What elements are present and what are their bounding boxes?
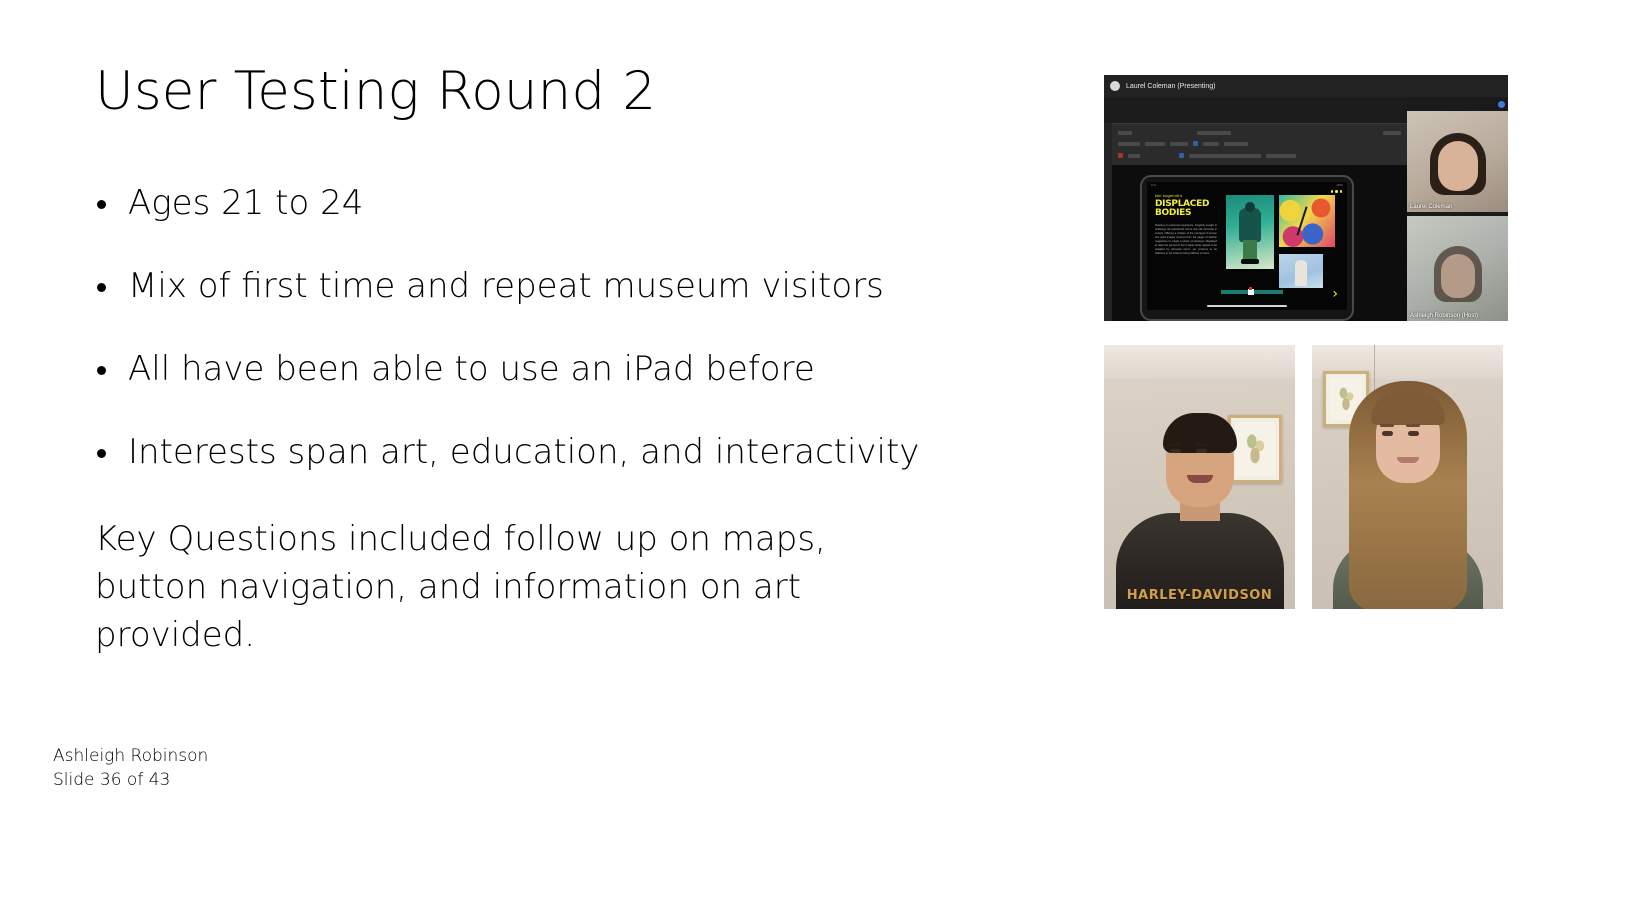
- slide-footer: Ashleigh Robinson Slide 36 of 43: [53, 744, 208, 792]
- more-options-icon[interactable]: [1331, 190, 1343, 193]
- person-eyebrow: [1406, 424, 1420, 427]
- person-eye: [1196, 449, 1207, 453]
- design-app-toolbar: [1112, 123, 1407, 166]
- avatar: [1438, 141, 1478, 191]
- avatar: [1441, 254, 1475, 298]
- figure-shape: [1239, 208, 1261, 242]
- toolbar-chip: [1128, 154, 1140, 158]
- participant-tile[interactable]: Ashleigh Robinson (Host): [1407, 216, 1508, 321]
- exhibit-title: DISPLACED BODIES: [1155, 200, 1217, 218]
- footer-author: Ashleigh Robinson: [53, 744, 208, 768]
- ipad-screen: 9:41 100% kiki kogelnik's DISPLACED BODI…: [1147, 182, 1347, 310]
- person-eyebrow: [1380, 424, 1394, 427]
- person-eyebrow: [1194, 443, 1208, 446]
- participant-name-label: Laurel Coleman: [1410, 204, 1452, 210]
- person-mouth: [1397, 457, 1419, 463]
- exhibit-body-text: Drawing on personal experience, Kogelnik…: [1155, 224, 1217, 256]
- figure-shape: [1241, 259, 1259, 264]
- toolbar-row-tertiary: [1112, 150, 1407, 161]
- toolbar-chip: [1383, 131, 1401, 135]
- photo-background: [1104, 345, 1295, 379]
- exhibit-text-column: kiki kogelnik's DISPLACED BODIES Drawing…: [1155, 193, 1217, 256]
- list-item: Ages 21 to 24: [95, 183, 995, 224]
- microphone-icon: [1110, 81, 1120, 91]
- toolbar-chip: [1179, 153, 1184, 158]
- zoom-meeting-screenshot: Laurel Coleman (Presenting): [1104, 75, 1508, 321]
- app-sidebar: [1104, 123, 1112, 321]
- toolbar-chip: [1170, 142, 1188, 146]
- exhibit-kicker: kiki kogelnik's: [1155, 193, 1217, 198]
- status-battery: 100%: [1336, 184, 1343, 188]
- person-mouth: [1187, 475, 1213, 483]
- toolbar-chip: [1193, 141, 1198, 146]
- participant-photo-row: HARLEY-DAVIDSON: [1104, 345, 1508, 609]
- slider-handle[interactable]: [1248, 289, 1254, 295]
- ipad-prototype-frame: 9:41 100% kiki kogelnik's DISPLACED BODI…: [1140, 175, 1354, 321]
- key-questions-paragraph: Key Questions included follow up on maps…: [95, 515, 945, 660]
- figure-shape: [1295, 260, 1307, 286]
- home-indicator: [1207, 305, 1287, 307]
- toolbar-chip: [1145, 142, 1165, 146]
- zoom-top-bar: Laurel Coleman (Presenting): [1104, 75, 1508, 97]
- toolbar-row-primary: [1112, 127, 1407, 138]
- shirt-graphic-text: HARLEY-DAVIDSON: [1127, 588, 1272, 603]
- participant-tile[interactable]: Laurel Coleman: [1407, 111, 1508, 212]
- artwork-thumbnail-3[interactable]: [1279, 254, 1323, 288]
- toolbar-chip: [1203, 142, 1219, 146]
- status-time: 9:41: [1151, 184, 1156, 188]
- participant-photo-female: [1312, 345, 1503, 609]
- toolbar-chip: [1189, 154, 1261, 158]
- figure-shape: [1296, 206, 1307, 235]
- zoom-status-indicator-icon: [1498, 101, 1505, 108]
- artwork-thumbnail-2[interactable]: [1279, 195, 1335, 247]
- participant-photo-male: HARLEY-DAVIDSON: [1104, 345, 1295, 609]
- slide-text-column: User Testing Round 2 Ages 21 to 24 Mix o…: [95, 62, 995, 659]
- next-arrow-icon[interactable]: ›: [1332, 287, 1338, 301]
- screen-share-area: 9:41 100% kiki kogelnik's DISPLACED BODI…: [1104, 97, 1407, 321]
- toolbar-chip: [1224, 142, 1248, 146]
- figure-shape: [1245, 202, 1255, 212]
- list-item: Interests span art, education, and inter…: [95, 432, 995, 473]
- framed-artwork: [1228, 415, 1282, 483]
- participant-name-label: Ashleigh Robinson (Host): [1410, 313, 1478, 319]
- media-column: Laurel Coleman (Presenting): [1104, 75, 1508, 321]
- person-eye: [1382, 431, 1393, 436]
- toolbar-chip: [1118, 131, 1132, 135]
- toolbar-row-secondary: [1112, 138, 1407, 149]
- person-hair: [1371, 391, 1445, 425]
- presenter-label: Laurel Coleman (Presenting): [1126, 83, 1216, 90]
- footer-slide-counter: Slide 36 of 43: [53, 768, 208, 792]
- person-eye: [1408, 431, 1419, 436]
- toolbar-chip: [1118, 142, 1140, 146]
- page-title: User Testing Round 2: [95, 62, 995, 121]
- toolbar-chip: [1118, 153, 1123, 158]
- person-eyebrow: [1168, 443, 1182, 446]
- presentation-slide: User Testing Round 2 Ages 21 to 24 Mix o…: [0, 0, 1625, 914]
- person-eye: [1170, 449, 1181, 453]
- timeline-slider[interactable]: [1221, 290, 1283, 294]
- bullet-list: Ages 21 to 24 Mix of first time and repe…: [95, 183, 995, 472]
- ipad-status-bar: 9:41 100%: [1151, 184, 1343, 188]
- design-canvas: 9:41 100% kiki kogelnik's DISPLACED BODI…: [1112, 165, 1407, 321]
- toolbar-chip: [1197, 131, 1231, 135]
- artwork-thumbnail-1[interactable]: [1226, 195, 1274, 269]
- toolbar-chip: [1266, 154, 1296, 158]
- list-item: Mix of first time and repeat museum visi…: [95, 266, 995, 307]
- list-item: All have been able to use an iPad before: [95, 349, 995, 390]
